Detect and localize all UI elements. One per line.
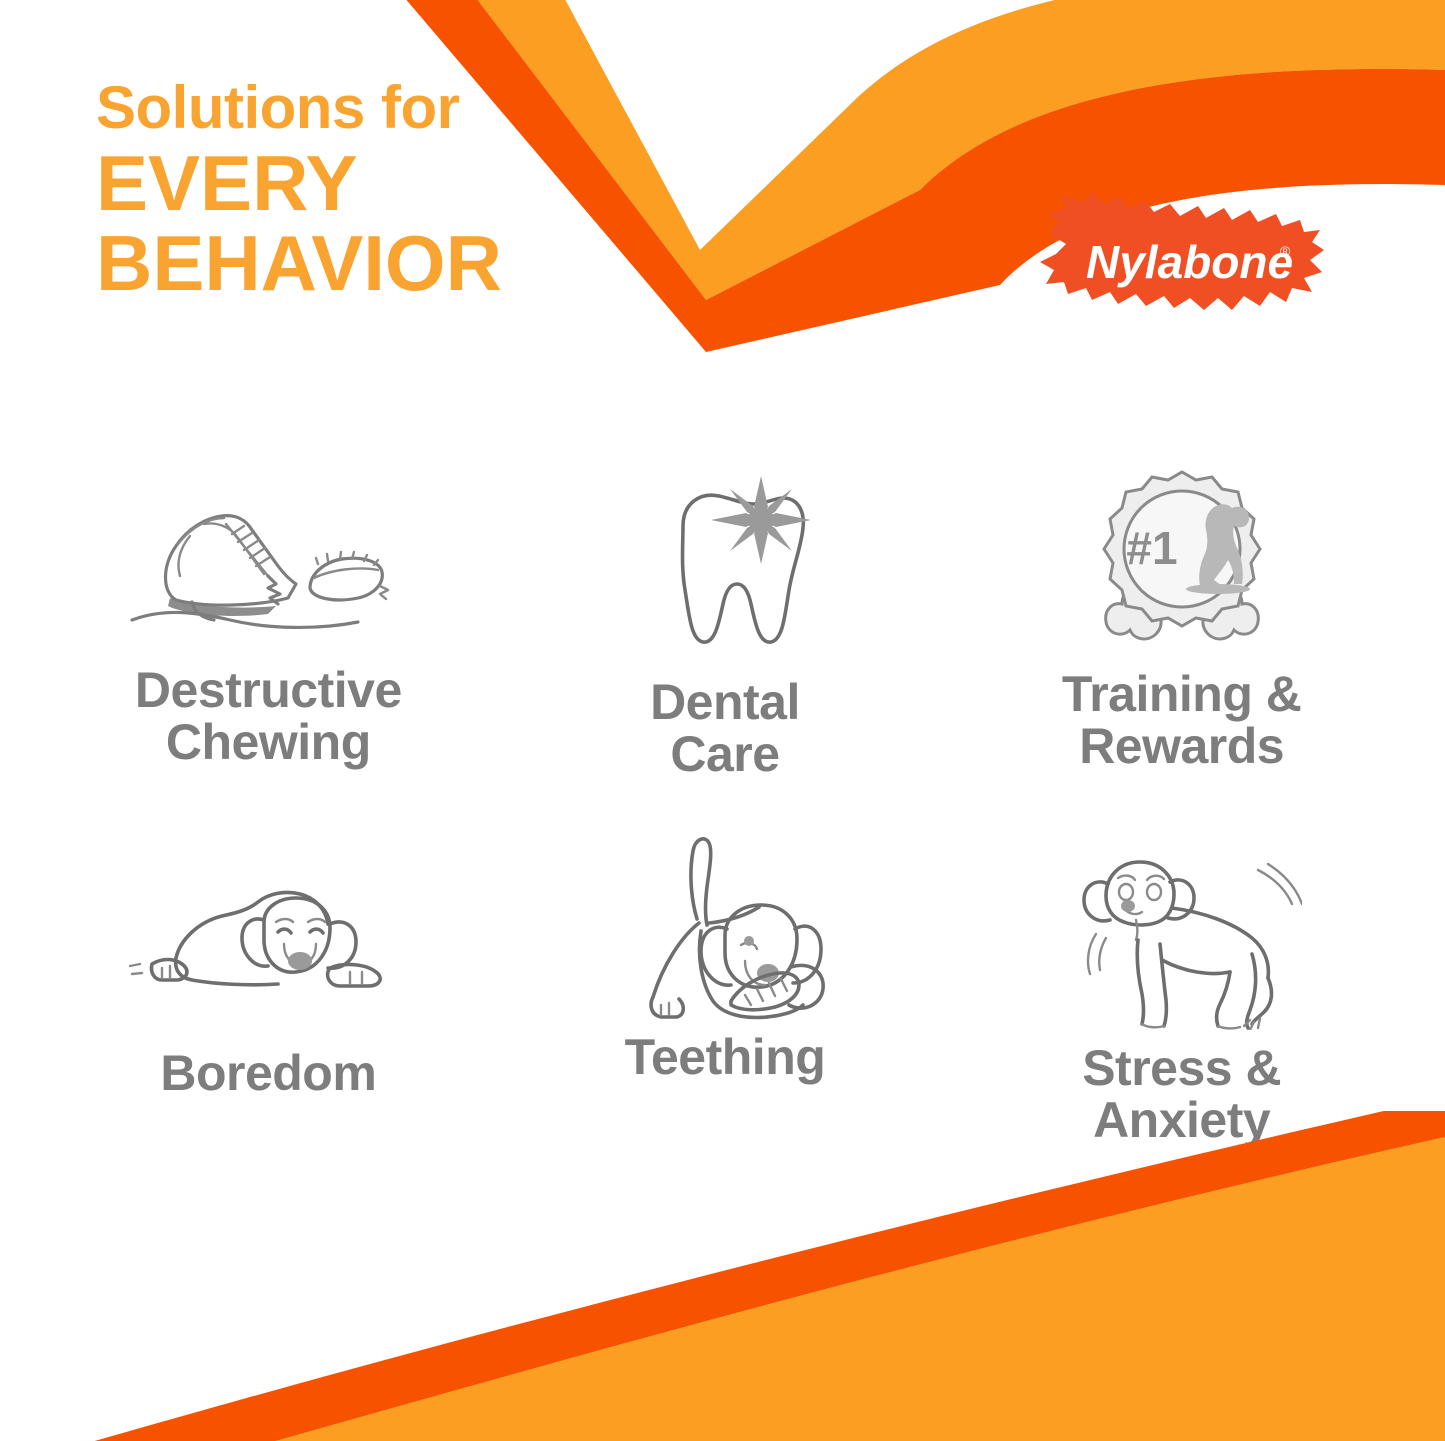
grid-item-label: Stress & Anxiety — [1082, 1042, 1281, 1146]
grid-item-training-rewards: #1 Training & Rewards — [953, 470, 1410, 850]
grid-item-label: Teething — [625, 1031, 826, 1083]
number-one-award-badge-icon: #1 — [953, 470, 1410, 660]
chewed-shoe-icon — [40, 470, 497, 650]
headline-block: Solutions for EVERY BEHAVIOR — [96, 78, 616, 302]
registered-trademark-icon: ® — [1280, 243, 1291, 259]
grid-item-boredom: Boredom — [40, 850, 497, 1230]
grid-item-teething: Teething — [497, 850, 954, 1230]
headline-line-1: Solutions for — [96, 78, 616, 138]
grid-item-stress-anxiety: Stress & Anxiety — [953, 850, 1410, 1230]
bored-lying-dog-icon — [40, 850, 497, 1025]
grid-item-label: Dental Care — [650, 676, 800, 780]
headline-line-2: EVERY — [96, 144, 616, 222]
infographic-canvas: Solutions for EVERY BEHAVIOR Nylabone ® — [0, 0, 1445, 1441]
grid-item-destructive-chewing: Destructive Chewing — [40, 470, 497, 850]
grid-item-label: Training & Rewards — [1062, 668, 1301, 772]
logo-wordmark: Nylabone — [1086, 236, 1293, 288]
puppy-chewing-toy-icon — [497, 850, 954, 1035]
behavior-grid: Destructive Chewing — [40, 470, 1410, 1230]
grid-item-label: Destructive Chewing — [135, 664, 402, 768]
grid-item-dental-care: Dental Care — [497, 470, 954, 850]
headline-line-3: BEHAVIOR — [96, 224, 616, 302]
nylabone-logo: Nylabone ® — [1036, 186, 1326, 338]
grid-item-label: Boredom — [160, 1047, 376, 1099]
anxious-standing-dog-icon — [953, 850, 1410, 1030]
sparkling-tooth-icon — [497, 470, 954, 660]
badge-rank-text: #1 — [1126, 522, 1177, 574]
